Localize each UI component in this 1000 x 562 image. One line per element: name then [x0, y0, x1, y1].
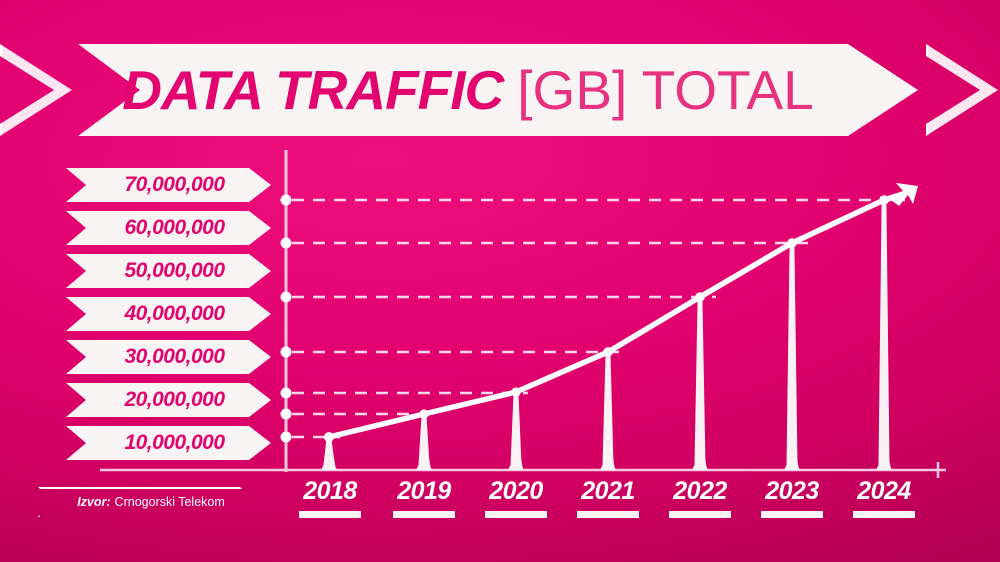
- x-tick-underline: [853, 511, 915, 518]
- drop-line-2022: [692, 297, 708, 470]
- data-point-2020: [511, 387, 520, 396]
- x-tick-underline: [485, 511, 547, 518]
- y-axis-dot: [281, 238, 292, 249]
- x-tick-underline: [669, 511, 731, 518]
- data-point-2021: [603, 347, 613, 357]
- data-point-2022: [695, 292, 705, 302]
- x-tick-label: 2023: [742, 476, 842, 506]
- x-tick-label: 2020: [466, 476, 566, 506]
- y-axis-dot: [281, 347, 292, 358]
- trend-line: [329, 193, 906, 437]
- x-tick-label: 2024: [834, 476, 934, 506]
- data-point-2023: [787, 238, 797, 248]
- x-tick-2024: 2024: [834, 476, 934, 518]
- source-text: Izvor: Crnogorski Telekom: [38, 487, 256, 517]
- drop-line-2023: [784, 243, 800, 470]
- x-tick-2020: 2020: [466, 476, 566, 518]
- x-axis-ticks: [324, 452, 891, 470]
- y-axis-dot: [281, 195, 292, 206]
- x-tick-label: 2022: [650, 476, 750, 506]
- x-tick-label: 2019: [374, 476, 474, 506]
- drop-line-2024: [876, 200, 892, 470]
- x-tick-label: 2018: [280, 476, 380, 506]
- x-tick-2018: 2018: [280, 476, 380, 518]
- data-point-2024: [879, 195, 889, 205]
- x-tick-underline: [393, 511, 455, 518]
- x-tick-underline: [299, 511, 361, 518]
- infographic-root: DATA TRAFFIC [GB] TOTAL 70,000,000 60,00…: [0, 0, 1000, 562]
- x-tick-2022: 2022: [650, 476, 750, 518]
- y-axis-dot: [281, 432, 292, 443]
- x-tick-underline: [761, 511, 823, 518]
- x-tick-label: 2021: [558, 476, 658, 506]
- source-value: Crnogorski Telekom: [115, 495, 225, 509]
- x-tick-2021: 2021: [558, 476, 658, 518]
- source-attribution: Izvor: Crnogorski Telekom: [38, 487, 256, 517]
- drop-lines: [321, 200, 892, 470]
- y-axis-dot: [281, 292, 292, 303]
- y-axis-dot: [281, 388, 292, 399]
- data-point-2019: [419, 409, 428, 418]
- data-point-2018: [324, 432, 334, 442]
- x-tick-2019: 2019: [374, 476, 474, 518]
- source-label: Izvor:: [77, 495, 110, 509]
- y-axis-dot: [281, 409, 292, 420]
- x-tick-underline: [577, 511, 639, 518]
- x-tick-2023: 2023: [742, 476, 842, 518]
